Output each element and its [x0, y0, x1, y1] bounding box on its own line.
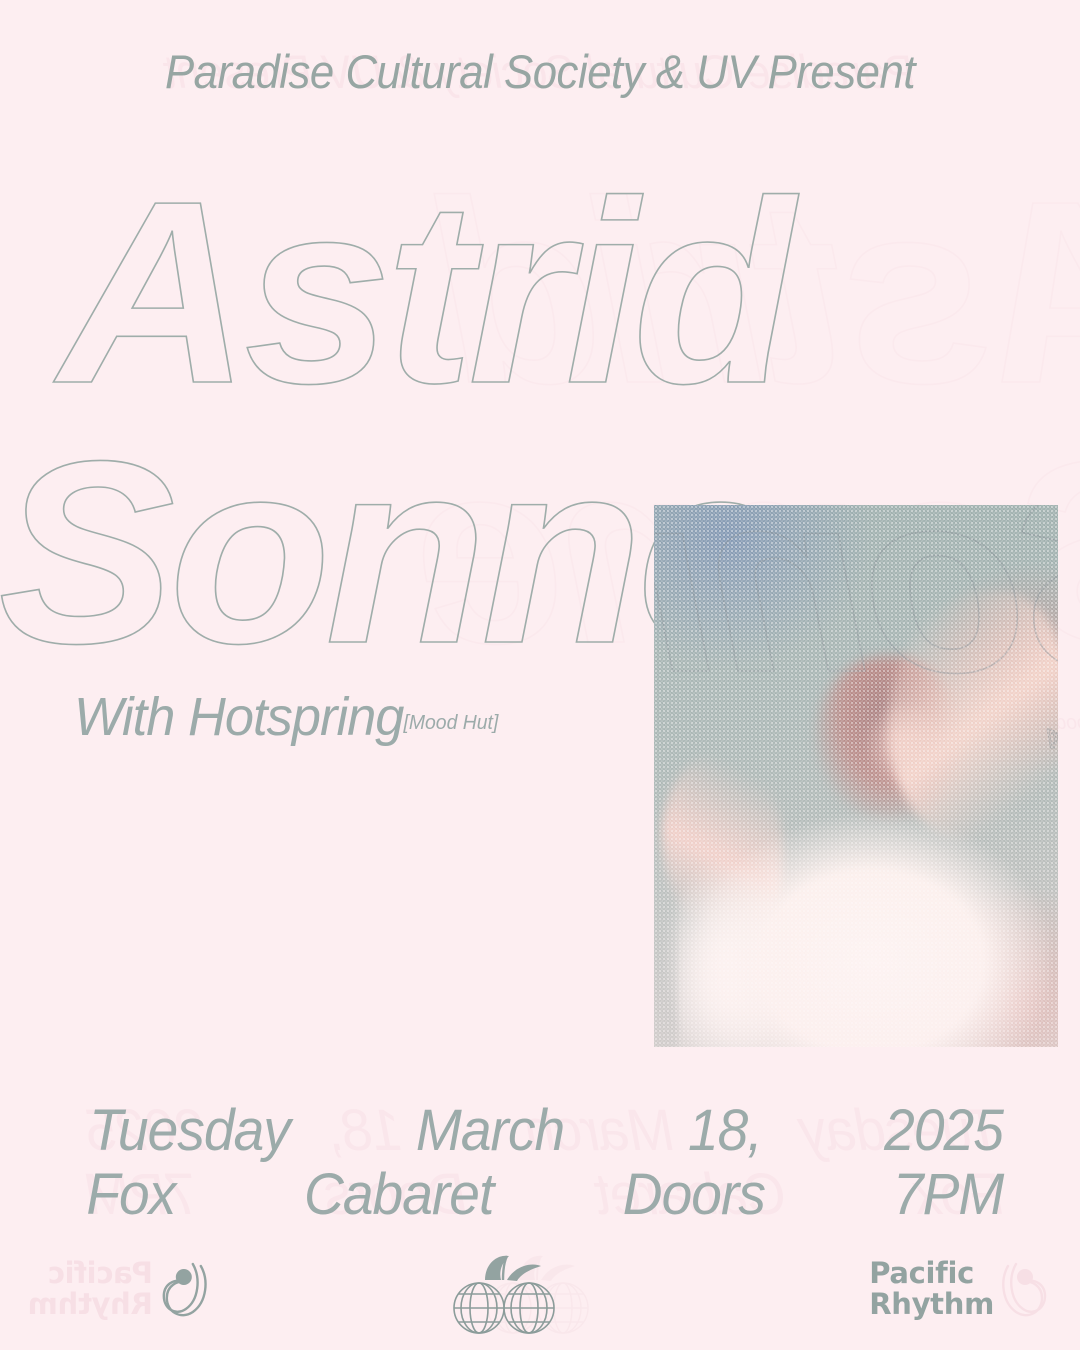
venue-name-part1: Fox — [86, 1161, 175, 1228]
date-month: March — [416, 1097, 564, 1164]
pr-line1-mirrored: Pacific — [28, 1258, 153, 1289]
support-act-label: [Mood Hut] — [403, 712, 498, 734]
doors-label: Doors — [623, 1161, 765, 1228]
cherry-globes-logo — [445, 1250, 635, 1346]
date-weekday: Tuesday — [89, 1097, 290, 1164]
venue-name-part2: Cabaret — [304, 1161, 493, 1228]
pr-line2-mirrored: Rhythm — [28, 1289, 153, 1320]
pacific-rhythm-wordmark-mirrored: Pacific Rhythm — [28, 1258, 153, 1321]
logo-strip: Pacific Rhythm — [0, 1246, 1080, 1350]
swirl-icon — [157, 1258, 211, 1320]
support-act: With Hotspring[Mood Hut] — [74, 686, 498, 748]
doors-time: 7PM — [893, 1161, 1003, 1228]
date-day: 18, — [688, 1097, 762, 1164]
pacific-rhythm-wordmark: Pacific Rhythm — [869, 1258, 994, 1321]
date-row: Tuesday March 18, 2025 — [84, 1097, 1006, 1164]
pr-line2: Rhythm — [869, 1289, 994, 1320]
artist-name-line1: Astrid — [59, 176, 788, 410]
pacific-rhythm-logo: Pacific Rhythm — [869, 1258, 1052, 1321]
swirl-icon-ghost — [998, 1258, 1052, 1320]
presenter-line-group: Paradise Cultural Society & UV Present P… — [0, 44, 1080, 106]
support-act-name: With Hotspring — [74, 687, 403, 747]
poster-canvas: Paradise Cultural Society & UV Present P… — [0, 0, 1080, 1350]
date-year: 2025 — [884, 1097, 1003, 1164]
cherry-globes-icon — [445, 1250, 565, 1346]
artist-photo: Sonne With Hotspring[Mood Hut] — [654, 505, 1058, 1047]
photo-color-wash — [654, 505, 1058, 1047]
pacific-rhythm-logo-mirrored: Pacific Rhythm — [28, 1258, 211, 1321]
pr-line1: Pacific — [869, 1258, 994, 1289]
presenter-line: Paradise Cultural Society & UV Present — [38, 44, 1042, 99]
venue-row: Fox Cabaret Doors 7PM — [84, 1161, 1006, 1228]
